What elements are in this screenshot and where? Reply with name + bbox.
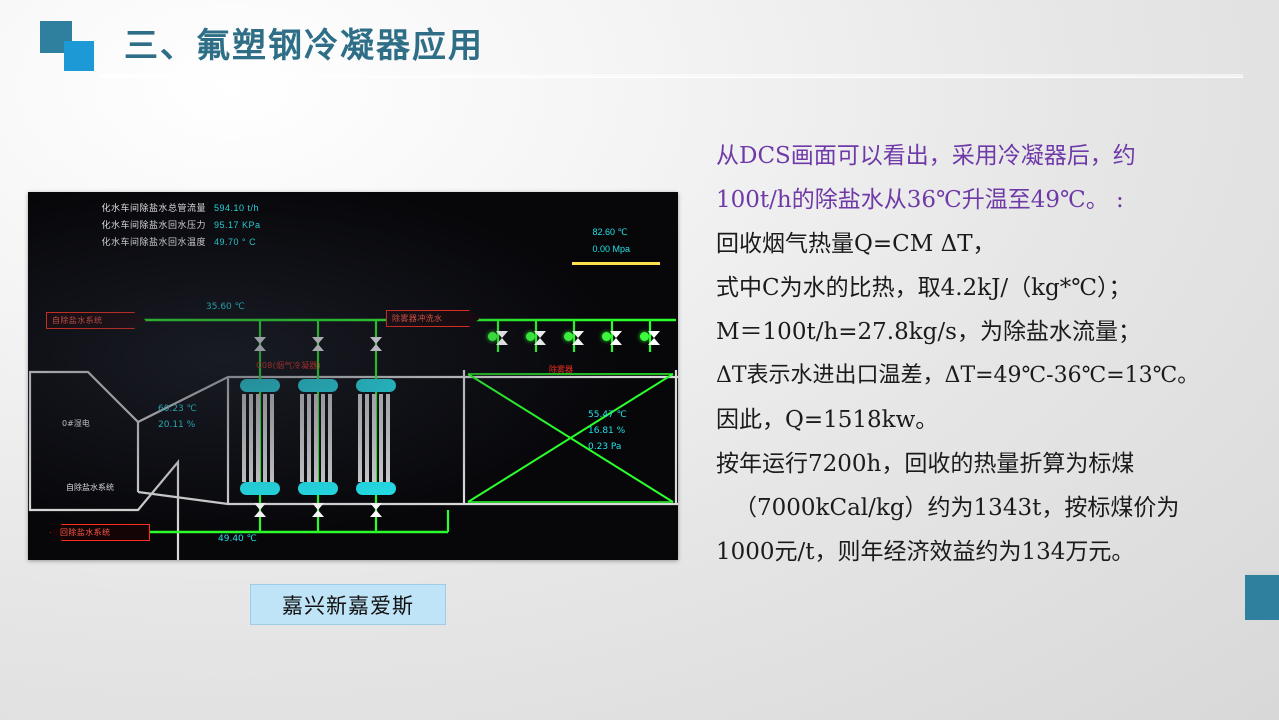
dcs-value-left-percent: 20.11 % — [158, 420, 195, 430]
body-line-8: 按年运行7200h，回收的热量折算为标煤 — [716, 442, 1261, 486]
dcs-screen-photo: 化水车间除盐水总管流量 594.10 t/h 化水车间除盐水回水压力 95.17… — [28, 192, 678, 560]
body-line-2: 100t/h的除盐水从36℃升温至49℃。 : — [716, 178, 1261, 222]
dcs-duct-schematic — [28, 192, 678, 560]
body-line-3: 回收烟气热量Q=CM ΔT， — [716, 222, 1261, 266]
tag-outlet-demin-water: 回除盐水系统 — [50, 524, 150, 541]
body-line-5: M＝100t/h=27.8kg/s，为除盐水流量； — [716, 310, 1261, 354]
body-line-10: 1000元/t，则年经济效益约为134万元。 — [716, 530, 1261, 574]
label-condenser: C08(烟气冷凝器) — [256, 360, 321, 371]
right-accent-bar — [1245, 572, 1279, 620]
body-line-6: ΔT表示水进出口温差，ΔT=49℃-36℃=13℃。 — [716, 354, 1261, 398]
tag-inlet-demin-water: 自除盐水系统 — [46, 312, 146, 329]
label-demister: 除雾器 — [549, 364, 573, 375]
slide-header: 三、氟塑钢冷凝器应用 — [0, 0, 1279, 90]
decorative-square-light-icon — [64, 41, 94, 71]
dcs-value-right-percent: 16.81 % — [588, 426, 625, 436]
right-accent-bar-cap — [1245, 572, 1279, 575]
body-line-7: 因此，Q=1518kw。 — [716, 398, 1261, 442]
image-caption: 嘉兴新嘉爱斯 — [250, 584, 446, 625]
dcs-value-outlet-temp: 49.40 ℃ — [218, 534, 257, 544]
label-demin-system: 自除盐水系统 — [66, 482, 114, 493]
page-title: 三、氟塑钢冷凝器应用 — [124, 18, 484, 67]
dcs-value-right-pressure: 0.23 Pa — [588, 442, 621, 452]
header-divider — [101, 74, 1243, 77]
slide-root: 三、氟塑钢冷凝器应用 从DCS画面可以看出，采用冷凝器后，约 100t/h的除盐… — [0, 0, 1279, 720]
body-line-4: 式中C为水的比热，取4.2kJ/（kg*℃）； — [716, 266, 1261, 310]
body-line-1: 从DCS画面可以看出，采用冷凝器后，约 — [716, 134, 1261, 178]
tag-demister-wash-water: 除雾器冲洗水 — [386, 310, 480, 327]
body-line-9: （7000kCal/kg）约为1343t，按标煤价为 — [716, 486, 1261, 530]
dcs-value-inlet-temp: 35.60 ℃ — [206, 302, 245, 312]
dcs-value-left-temp: 60.23 ℃ — [158, 404, 197, 414]
label-wet-esp: 0#湿电 — [62, 418, 90, 429]
body-text-block: 从DCS画面可以看出，采用冷凝器后，约 100t/h的除盐水从36℃升温至49℃… — [716, 134, 1261, 574]
dcs-value-right-temp: 55.47 ℃ — [588, 410, 627, 420]
